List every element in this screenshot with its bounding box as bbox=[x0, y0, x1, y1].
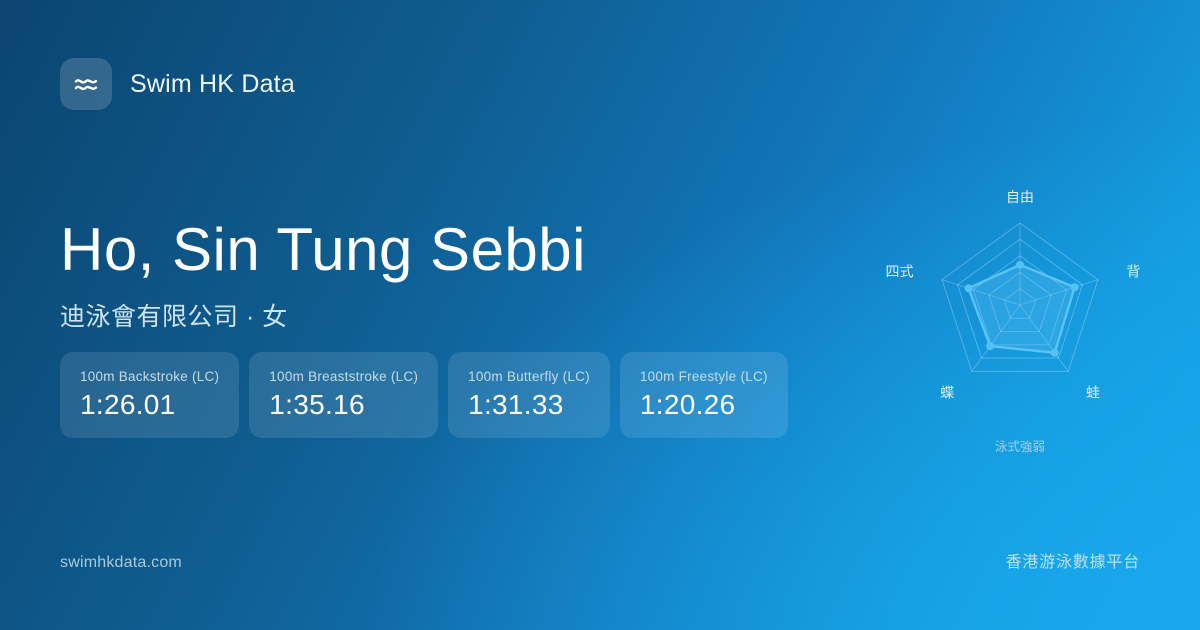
radar-axis-label: 自由 bbox=[1006, 189, 1034, 205]
radar-axis-label: 蝶 bbox=[940, 384, 954, 400]
radar-data-area bbox=[969, 265, 1075, 353]
footer-site-url: swimhkdata.com bbox=[60, 554, 182, 572]
stat-card-label: 100m Backstroke (LC) bbox=[80, 369, 219, 384]
stat-card-label: 100m Butterfly (LC) bbox=[468, 369, 590, 384]
stat-card-value: 1:31.33 bbox=[468, 391, 590, 419]
radar-axis-label: 背 bbox=[1127, 264, 1141, 280]
stroke-strength-radar-chart: 自由背蛙蝶四式 泳式強弱 bbox=[860, 160, 1180, 480]
radar-data-point bbox=[1016, 261, 1024, 269]
radar-data-point bbox=[986, 342, 994, 350]
radar-axis-label: 蛙 bbox=[1086, 384, 1100, 400]
stat-card-list: 100m Backstroke (LC) 1:26.01 100m Breast… bbox=[60, 352, 788, 438]
page-title: Ho, Sin Tung Sebbi bbox=[60, 218, 860, 283]
stat-card[interactable]: 100m Freestyle (LC) 1:20.26 bbox=[620, 352, 788, 438]
radar-axis-label: 四式 bbox=[885, 264, 913, 280]
stat-card[interactable]: 100m Backstroke (LC) 1:26.01 bbox=[60, 352, 239, 438]
radar-data-point bbox=[965, 284, 973, 292]
brand-name: Swim HK Data bbox=[130, 70, 295, 99]
radar-data-point bbox=[1071, 283, 1079, 291]
radar-data-point bbox=[1051, 349, 1059, 357]
stat-card-value: 1:26.01 bbox=[80, 391, 219, 419]
stat-card-value: 1:20.26 bbox=[640, 391, 768, 419]
footer-tagline: 香港游泳數據平台 bbox=[1006, 548, 1140, 572]
stat-card-value: 1:35.16 bbox=[269, 391, 418, 419]
brand-header[interactable]: Swim HK Data bbox=[60, 58, 295, 110]
stat-card-label: 100m Freestyle (LC) bbox=[640, 369, 768, 384]
stat-card[interactable]: 100m Butterfly (LC) 1:31.33 bbox=[448, 352, 610, 438]
radar-caption: 泳式強弱 bbox=[995, 440, 1045, 454]
wave-icon bbox=[60, 58, 112, 110]
stat-card[interactable]: 100m Breaststroke (LC) 1:35.16 bbox=[249, 352, 438, 438]
stat-card-label: 100m Breaststroke (LC) bbox=[269, 369, 418, 384]
poster-canvas: Swim HK Data Ho, Sin Tung Sebbi 迪泳會有限公司 … bbox=[0, 0, 1200, 630]
athlete-block: Ho, Sin Tung Sebbi 迪泳會有限公司 · 女 bbox=[60, 218, 860, 333]
athlete-meta: 迪泳會有限公司 · 女 bbox=[60, 297, 860, 333]
